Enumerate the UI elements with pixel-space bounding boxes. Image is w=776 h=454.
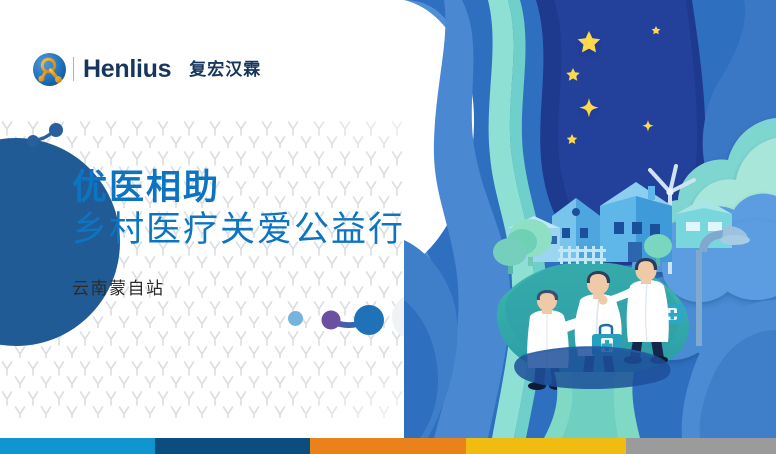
subtitle-location: 云南蒙自站 (72, 274, 165, 299)
logo-chinese-name: 复宏汉霖 (189, 61, 261, 78)
molecule-dumbbell-accent (318, 300, 390, 338)
footer-segment-grey (626, 438, 776, 454)
brand-colour-bar (0, 438, 776, 454)
henlius-logo-mark-icon (33, 53, 66, 86)
presentation-slide: Henlius 复宏汉霖 优医相助 乡村医疗关爱公益行 云南蒙自站 (0, 0, 776, 454)
brand-logo[interactable]: Henlius 复宏汉霖 (33, 52, 261, 86)
title-line-1: 优医相助 (72, 168, 405, 207)
headline-block: 优医相助 乡村医疗关爱公益行 (72, 168, 405, 250)
footer-segment-orange (310, 438, 466, 454)
papercut-illustration (404, 0, 776, 438)
footer-segment-cyan (0, 438, 155, 454)
footer-segment-navy (155, 438, 310, 454)
molecule-dumbbell-icon (24, 122, 72, 152)
decorative-dot-small (288, 311, 303, 326)
logo-wordmark: Henlius (83, 57, 171, 82)
logo-separator (73, 57, 74, 81)
title-line-2: 乡村医疗关爱公益行 (72, 209, 405, 250)
footer-segment-yellow (466, 438, 626, 454)
